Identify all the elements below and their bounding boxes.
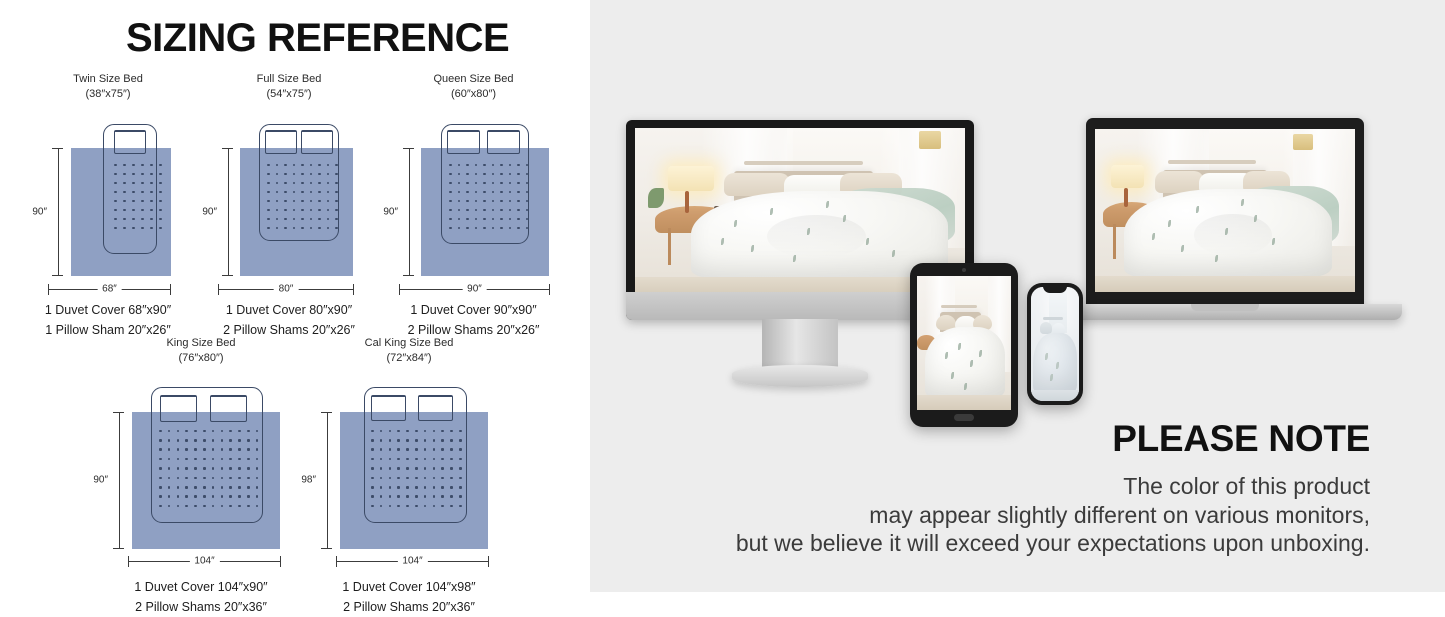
bed-card-twin: Twin Size Bed (38″x75″) 90″ 68″ 1 Duvet … — [18, 72, 198, 340]
height-label: 90″ — [200, 205, 219, 218]
monitor-stand-base — [732, 365, 868, 387]
laptop-mockup — [1086, 118, 1364, 308]
bed-mattress-dimensions: (76″x80″) — [95, 351, 307, 366]
height-label: 90″ — [91, 474, 110, 487]
bed-diagram: 90″ 104″ — [95, 372, 307, 557]
caption-duvet: 1 Duvet Cover 68″x90″ — [18, 300, 198, 320]
bed-mattress-dimensions: (60″x80″) — [381, 87, 566, 102]
bed-name: Full Size Bed — [199, 72, 379, 87]
duvet-dot-pattern — [95, 372, 307, 557]
bed-caption: 1 Duvet Cover 90″x90″ 2 Pillow Shams 20″… — [381, 300, 566, 341]
tablet-screen-photo — [917, 276, 1011, 410]
width-label: 68″ — [97, 284, 122, 295]
width-dimension-line: 90″ — [399, 284, 550, 295]
bed-name: Twin Size Bed — [18, 72, 198, 87]
bed-card-cal-king: Cal King Size Bed (72″x84″) 98″ 104″ 1 — [303, 336, 515, 617]
bed-mattress-dimensions: (38″x75″) — [18, 87, 198, 102]
caption-duvet: 1 Duvet Cover 90″x90″ — [381, 300, 566, 320]
width-label: 104″ — [397, 556, 427, 567]
height-dimension-line: 98″ — [321, 412, 332, 549]
bed-caption: 1 Duvet Cover 80″x90″ 2 Pillow Shams 20″… — [199, 300, 379, 341]
page-title: SIZING REFERENCE — [126, 18, 509, 58]
caption-sham: 2 Pillow Shams 20″x36″ — [95, 597, 307, 617]
tablet-mockup — [910, 263, 1018, 427]
laptop-screen-photo — [1095, 129, 1355, 292]
bed-diagram: 90″ 68″ — [18, 108, 198, 278]
monitor-stand-neck — [762, 319, 838, 371]
width-dimension-line: 80″ — [218, 284, 354, 295]
height-dimension-line: 90″ — [222, 148, 233, 276]
phone-mockup — [1027, 283, 1083, 405]
duvet-dot-pattern — [303, 372, 515, 557]
device-preview-panel: PLEASE NOTE The color of this product ma… — [590, 0, 1445, 592]
please-note-body: The color of this product may appear sli… — [736, 472, 1370, 558]
tablet-camera-icon — [962, 268, 966, 272]
bed-diagram: 90″ 80″ — [199, 108, 379, 278]
bed-name: King Size Bed — [95, 336, 307, 351]
bed-name: Cal King Size Bed — [303, 336, 515, 351]
width-label: 104″ — [189, 556, 219, 567]
width-dimension-line: 104″ — [336, 556, 489, 567]
bed-diagram: 90″ 90″ — [381, 108, 566, 278]
bed-caption: 1 Duvet Cover 104″x98″ 2 Pillow Shams 20… — [303, 577, 515, 617]
please-note-heading: PLEASE NOTE — [1112, 420, 1370, 457]
caption-duvet: 1 Duvet Cover 104″x90″ — [95, 577, 307, 597]
bed-caption: 1 Duvet Cover 104″x90″ 2 Pillow Shams 20… — [95, 577, 307, 617]
caption-duvet: 1 Duvet Cover 104″x98″ — [303, 577, 515, 597]
bed-diagram: 98″ 104″ — [303, 372, 515, 557]
caption-duvet: 1 Duvet Cover 80″x90″ — [199, 300, 379, 320]
phone-notch — [1043, 286, 1067, 293]
bed-mattress-dimensions: (72″x84″) — [303, 351, 515, 366]
note-line-1: The color of this product — [736, 472, 1370, 501]
bed-card-full: Full Size Bed (54″x75″) 90″ 80″ 1 Duvet — [199, 72, 379, 340]
note-line-3: but we believe it will exceed your expec… — [736, 529, 1370, 558]
bed-card-queen: Queen Size Bed (60″x80″) 90″ 90″ 1 Duve — [381, 72, 566, 340]
height-label: 90″ — [381, 205, 400, 218]
bed-mattress-dimensions: (54″x75″) — [199, 87, 379, 102]
tablet-home-button[interactable] — [954, 414, 974, 421]
note-line-2: may appear slightly different on various… — [736, 501, 1370, 530]
width-label: 90″ — [462, 284, 487, 295]
height-dimension-line: 90″ — [52, 148, 63, 276]
caption-sham: 2 Pillow Shams 20″x36″ — [303, 597, 515, 617]
bed-card-king: King Size Bed (76″x80″) 90″ 104″ 1 Duve — [95, 336, 307, 617]
height-dimension-line: 90″ — [113, 412, 124, 549]
bed-name: Queen Size Bed — [381, 72, 566, 87]
laptop-trackpad-notch — [1191, 304, 1259, 311]
width-dimension-line: 68″ — [48, 284, 171, 295]
sizing-reference-infographic: SIZING REFERENCE Twin Size Bed (38″x75″)… — [0, 0, 1445, 592]
phone-screen-photo — [1031, 287, 1079, 401]
width-label: 80″ — [274, 284, 299, 295]
sizing-reference-panel: SIZING REFERENCE Twin Size Bed (38″x75″)… — [0, 0, 590, 592]
bed-caption: 1 Duvet Cover 68″x90″ 1 Pillow Sham 20″x… — [18, 300, 198, 341]
duvet-dot-pattern — [18, 108, 198, 278]
height-dimension-line: 90″ — [403, 148, 414, 276]
width-dimension-line: 104″ — [128, 556, 281, 567]
height-label: 98″ — [299, 474, 318, 487]
height-label: 90″ — [30, 205, 49, 218]
